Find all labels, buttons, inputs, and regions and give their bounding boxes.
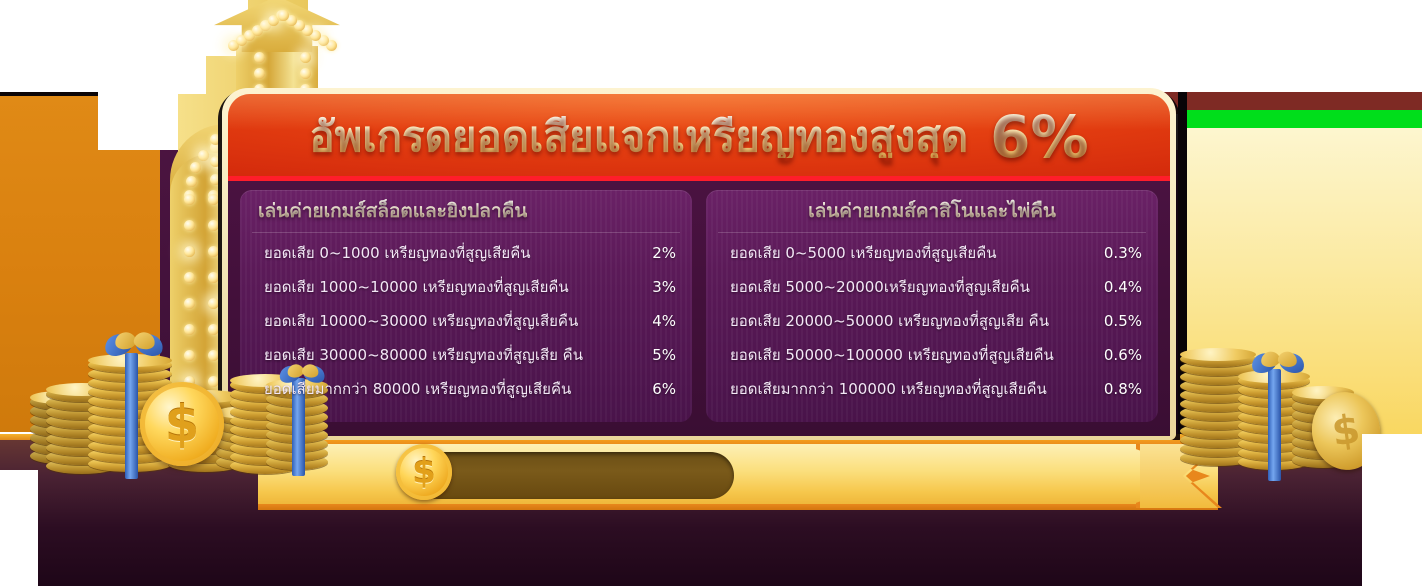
row-label: ยอดเสีย 50000~100000 เหรียญทองที่สูญเสีย… — [730, 343, 1092, 367]
dollar-symbol: $ — [412, 452, 436, 492]
marquee-bulb-icon — [208, 220, 219, 231]
row-value: 0.5% — [1102, 312, 1142, 330]
column-header-label: เล่นค่ายเกมส์สล็อตและยิงปลาคืน — [258, 196, 527, 226]
table-row: ยอดเสียมากกว่า 80000 เหรียญทองที่สูญเสีย… — [264, 377, 676, 411]
row-value: 3% — [636, 278, 676, 296]
marquee-bulb-icon — [254, 52, 265, 63]
dollar-coin-icon: $ — [396, 444, 452, 500]
rebate-columns: เล่นค่ายเกมส์สล็อตและยิงปลาคืน ยอดเสีย 0… — [240, 190, 1158, 422]
gift-ribbon — [1268, 369, 1281, 481]
dollar-symbol: $ — [1329, 406, 1363, 455]
row-value: 0.6% — [1102, 346, 1142, 364]
table-row: ยอดเสียมากกว่า 100000 เหรียญทองที่สูญเสี… — [730, 377, 1142, 411]
coin-top — [1180, 348, 1256, 361]
marquee-bulb-icon — [198, 150, 209, 161]
marquee-bulb-icon — [254, 68, 265, 79]
rebate-rows-slots: ยอดเสีย 0~1000 เหรียญทองที่สูญเสียคืน 2%… — [240, 233, 692, 411]
page-title: อัพเกรดยอดเสียแจกเหรียญทองสูงสุด 6% — [228, 96, 1170, 178]
column-header-label: เล่นค่ายเกมส์คาสิโนและไพ่คืน — [808, 196, 1056, 226]
marquee-bulb-icon — [190, 162, 201, 173]
row-label: ยอดเสีย 0~1000 เหรียญทองที่สูญเสียคืน — [264, 241, 626, 265]
footer-input-field[interactable] — [414, 452, 734, 499]
row-value: 5% — [636, 346, 676, 364]
marquee-bulb-icon — [184, 246, 195, 257]
row-label: ยอดเสีย 5000~20000เหรียญทองที่สูญเสียคืน — [730, 275, 1092, 299]
title-percent: 6% — [990, 108, 1088, 166]
row-label: ยอดเสียมากกว่า 100000 เหรียญทองที่สูญเสี… — [730, 377, 1092, 401]
marquee-bulb-icon — [210, 156, 221, 167]
column-header-slots: เล่นค่ายเกมส์สล็อตและยิงปลาคืน — [240, 190, 692, 232]
row-value: 2% — [636, 244, 676, 262]
dollar-symbol: $ — [165, 395, 200, 453]
table-row: ยอดเสีย 5000~20000เหรียญทองที่สูญเสียคืน… — [730, 275, 1142, 309]
marquee-bulb-icon — [208, 298, 219, 309]
floor-mask-left — [0, 470, 38, 586]
rebate-rows-casino: ยอดเสีย 0~5000 เหรียญทองที่สูญเสียคืน 0.… — [706, 233, 1158, 411]
floor-mask-right — [1362, 434, 1422, 586]
title-text: อัพเกรดยอดเสียแจกเหรียญทองสูงสุด — [309, 116, 968, 158]
marquee-bulb-icon — [184, 220, 195, 231]
marquee-bulb-icon — [300, 52, 311, 63]
row-label: ยอดเสีย 0~5000 เหรียญทองที่สูญเสียคืน — [730, 241, 1092, 265]
marquee-bulb-icon — [210, 174, 221, 185]
column-header-casino: เล่นค่ายเกมส์คาสิโนและไพ่คืน — [706, 190, 1158, 232]
table-row: ยอดเสีย 10000~30000 เหรียญทองที่สูญเสียค… — [264, 309, 676, 343]
row-value: 6% — [636, 380, 676, 398]
row-label: ยอดเสีย 1000~10000 เหรียญทองที่สูญเสียคื… — [264, 275, 626, 299]
marquee-bulb-icon — [186, 176, 197, 187]
row-label: ยอดเสีย 10000~30000 เหรียญทองที่สูญเสียค… — [264, 309, 626, 333]
marquee-bulb-icon — [184, 194, 195, 205]
table-row: ยอดเสีย 0~1000 เหรียญทองที่สูญเสียคืน 2% — [264, 241, 676, 275]
marquee-bulb-icon — [184, 272, 195, 283]
row-label: ยอดเสียมากกว่า 80000 เหรียญทองที่สูญเสีย… — [264, 377, 626, 401]
table-row: ยอดเสีย 30000~80000 เหรียญทองที่สูญเสีย … — [264, 343, 676, 377]
row-value: 0.3% — [1102, 244, 1142, 262]
marquee-bulb-icon — [300, 68, 311, 79]
gift-bow — [1251, 352, 1306, 377]
background-green-bar — [1186, 110, 1422, 130]
rebate-column-slots: เล่นค่ายเกมส์สล็อตและยิงปลาคืน ยอดเสีย 0… — [240, 190, 692, 422]
rebate-column-casino: เล่นค่ายเกมส์คาสิโนและไพ่คืน ยอดเสีย 0~5… — [706, 190, 1158, 422]
marquee-bulb-icon — [208, 272, 219, 283]
marquee-bulb-icon — [184, 298, 195, 309]
gift-bow — [105, 332, 166, 359]
marquee-bulb-icon — [208, 246, 219, 257]
row-label: ยอดเสีย 20000~50000 เหรียญทองที่สูญเสีย … — [730, 309, 1092, 333]
table-row: ยอดเสีย 20000~50000 เหรียญทองที่สูญเสีย … — [730, 309, 1142, 343]
marquee-bulb-icon — [210, 134, 221, 145]
row-value: 4% — [636, 312, 676, 330]
large-dollar-coin-icon: $ — [140, 382, 224, 466]
table-row: ยอดเสีย 50000~100000 เหรียญทองที่สูญเสีย… — [730, 343, 1142, 377]
table-row: ยอดเสีย 1000~10000 เหรียญทองที่สูญเสียคื… — [264, 275, 676, 309]
coin-stack-right: $ — [1180, 330, 1380, 470]
marquee-bulb-icon — [278, 10, 289, 21]
row-value: 0.4% — [1102, 278, 1142, 296]
row-value: 0.8% — [1102, 380, 1142, 398]
marquee-bulb-icon — [208, 194, 219, 205]
table-row: ยอดเสีย 0~5000 เหรียญทองที่สูญเสียคืน 0.… — [730, 241, 1142, 275]
ribbon-edge-bottom — [258, 504, 1218, 510]
gift-ribbon — [125, 353, 138, 479]
promo-banner: อัพเกรดยอดเสียแจกเหรียญทองสูงสุด 6% เล่น… — [0, 0, 1422, 586]
row-label: ยอดเสีย 30000~80000 เหรียญทองที่สูญเสีย … — [264, 343, 626, 367]
